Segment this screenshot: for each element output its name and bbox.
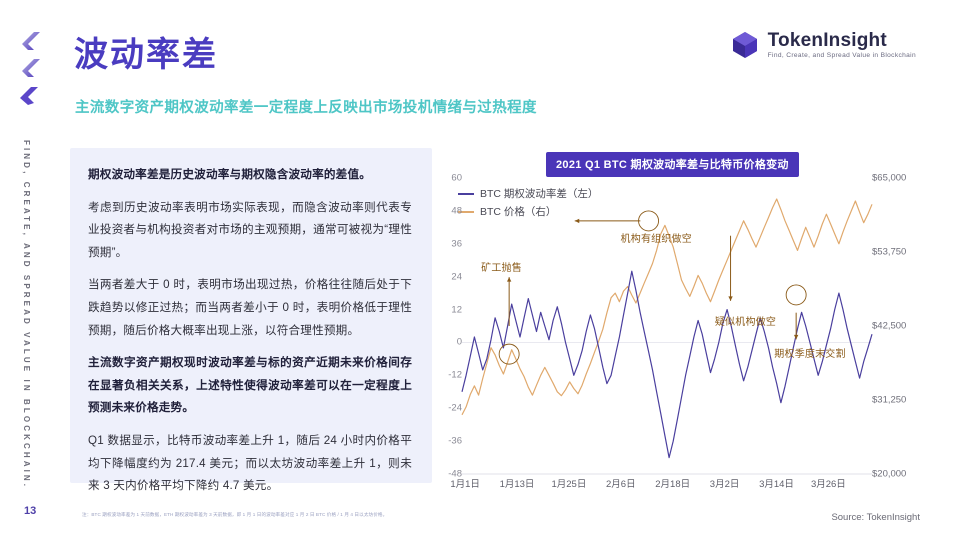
text-panel-body: 期权波动率差是历史波动率与期权隐含波动率的差值。考虑到历史波动率表明市场实际表现… bbox=[70, 148, 432, 498]
x-axis-tick: 2月18日 bbox=[655, 476, 690, 490]
footnote: 注：BTC 期权波动率差为 1 天前数据，ETH 期权波动率差为 3 天前数据，… bbox=[82, 512, 552, 518]
panel-paragraph: 主流数字资产期权现时波动率差与标的资产近期未来价格间存在显著负相关关系，上述特性… bbox=[88, 352, 412, 420]
annotation-arrow-icon bbox=[728, 236, 732, 301]
x-axis-tick: 1月25日 bbox=[551, 476, 586, 490]
chart-annotation-label: 疑似机构做空 bbox=[715, 313, 776, 328]
chart-annotation-label: 期权季度末交割 bbox=[774, 345, 845, 360]
annotation-circle-icon bbox=[499, 344, 519, 364]
source-label: Source: TokenInsight bbox=[831, 512, 920, 523]
panel-paragraph: 当两者差大于 0 时，表明市场出现过热，价格往往随后处于下跌趋势以修正过热；而当… bbox=[88, 274, 412, 342]
chevron-mark-icon-2 bbox=[18, 55, 44, 81]
annotation-circle-icon bbox=[639, 211, 659, 231]
chart-annotation-label: 机构有组织做空 bbox=[621, 230, 692, 245]
brand-logo: TokenInsight Find, Create, and Spread Va… bbox=[730, 30, 916, 60]
page-number: 13 bbox=[24, 505, 36, 517]
panel-paragraph: Q1 数据显示，比特币波动率差上升 1，随后 24 小时内价格平均下降幅度约为 … bbox=[88, 430, 412, 498]
x-axis-tick: 2月6日 bbox=[606, 476, 636, 490]
tokeninsight-logo-icon bbox=[730, 30, 760, 60]
left-rail: FIND, CREATE, AND SPREAD VALUE IN BLOCKC… bbox=[0, 0, 60, 540]
x-axis-tick: 3月14日 bbox=[759, 476, 794, 490]
slide: FIND, CREATE, AND SPREAD VALUE IN BLOCKC… bbox=[0, 0, 960, 540]
text-panel: 期权波动率差是历史波动率与期权隐含波动率的差值。考虑到历史波动率表明市场实际表现… bbox=[70, 148, 432, 483]
plot-area bbox=[436, 178, 928, 478]
chevron-mark-icon-3 bbox=[16, 83, 42, 109]
panel-paragraph: 期权波动率差是历史波动率与期权隐含波动率的差值。 bbox=[88, 164, 412, 187]
logo-name: TokenInsight bbox=[768, 31, 916, 51]
x-axis-tick: 1月13日 bbox=[500, 476, 535, 490]
x-axis-tick: 3月2日 bbox=[710, 476, 740, 490]
series-line bbox=[462, 271, 872, 457]
logo-tagline: Find, Create, and Spread Value in Blockc… bbox=[768, 53, 916, 60]
rail-tagline: FIND, CREATE, AND SPREAD VALUE IN BLOCKC… bbox=[22, 140, 31, 489]
panel-paragraph: 考虑到历史波动率表明市场实际表现，而隐含波动率则代表专业投资者与机构投资者对市场… bbox=[88, 197, 412, 265]
x-axis-tick: 1月1日 bbox=[450, 476, 480, 490]
chart-container: 2021 Q1 BTC 期权波动率差与比特币价格变动 BTC 期权波动率差（左）… bbox=[436, 150, 928, 500]
annotation-circle-icon bbox=[786, 285, 806, 305]
x-axis: 1月1日1月13日1月25日2月6日2月18日3月2日3月14日3月26日 bbox=[462, 476, 872, 494]
page-title: 波动率差 bbox=[74, 38, 218, 72]
x-axis-tick: 3月26日 bbox=[811, 476, 846, 490]
chart-annotation-label: 矿工抛售 bbox=[481, 259, 522, 274]
chart-title: 2021 Q1 BTC 期权波动率差与比特币价格变动 bbox=[546, 152, 799, 177]
page-subtitle: 主流数字资产期权波动率差一定程度上反映出市场投机情绪与过热程度 bbox=[75, 96, 537, 117]
chevron-mark-icon-1 bbox=[18, 28, 44, 54]
annotation-arrow-icon bbox=[507, 277, 511, 326]
annotation-arrow-icon bbox=[575, 219, 641, 223]
